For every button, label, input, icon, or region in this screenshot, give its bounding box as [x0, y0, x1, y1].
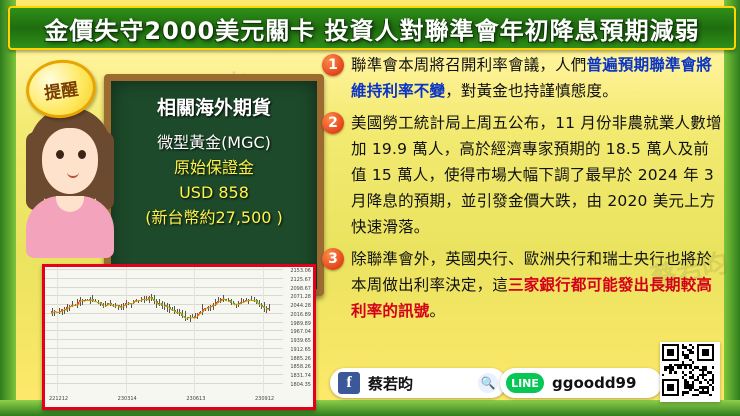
paragraph-number-badge: 2 [322, 112, 344, 134]
chart-y-tick: 1831.74 [290, 374, 311, 379]
qr-module [679, 366, 681, 368]
qr-module [697, 394, 699, 396]
paragraph-3: 3 除聯準會外，英國央行、歐洲央行和瑞士央行也將於本周做出利率決定，這三家銀行都… [322, 246, 724, 324]
line-chip[interactable]: LINE ggoodd99 [500, 368, 662, 398]
chart-gridline [45, 269, 283, 270]
paragraph-1-segment-1: 聯準會本周將召開利率會議，人們 [351, 56, 587, 74]
qr-module [687, 391, 689, 393]
qr-module [677, 394, 679, 396]
chart-y-tick: 2098.67 [290, 287, 311, 292]
reminder-label: 提醒 [42, 74, 79, 103]
chart-ma-line [265, 308, 268, 310]
decorative-left-bar [0, 0, 16, 416]
qr-module [692, 369, 694, 371]
chart-gridline [45, 287, 283, 288]
chart-vertical-gridline [194, 267, 195, 393]
paragraph-2: 2 美國勞工統計局上周五公布，11 月份非農就業人數增加 19.9 萬人，高於經… [322, 110, 724, 240]
qr-module [699, 381, 701, 383]
chart-gridline [45, 374, 283, 375]
chart-vertical-gridline [126, 267, 127, 393]
search-icon[interactable]: 🔍 [478, 373, 498, 393]
avatar-eye-left [56, 150, 64, 159]
qr-module [712, 366, 714, 368]
chart-x-tick: 230912 [255, 396, 274, 402]
qr-module [704, 374, 706, 376]
blackboard-line-3: USD 858 [179, 180, 249, 205]
chart-gridline [45, 322, 283, 323]
paragraph-1: 1 聯準會本周將召開利率會議，人們普遍預期聯準會將維持利率不變，對黃金也持謹慎態… [322, 52, 724, 104]
chart-y-tick: 2071.28 [290, 295, 311, 300]
chart-gridline [45, 278, 283, 279]
qr-module [677, 359, 679, 361]
paragraph-1-text: 聯準會本周將召開利率會議，人們普遍預期聯準會將維持利率不變，對黃金也持謹慎態度。 [351, 52, 724, 104]
qr-module [669, 371, 671, 373]
line-icon: LINE [506, 373, 544, 393]
chart-vertical-gridline [57, 267, 58, 393]
chart-y-tick: 1967.04 [290, 330, 311, 335]
page-title: 金價失守2000美元關卡 投資人對聯準會年初降息預期減弱 [44, 11, 699, 46]
chart-y-tick: 2016.89 [290, 313, 311, 318]
avatar-eye-right [78, 150, 86, 159]
qr-module [674, 371, 676, 373]
paragraph-2-text: 美國勞工統計局上周五公布，11 月份非農就業人數增加 19.9 萬人，高於經濟專… [351, 110, 724, 240]
blackboard-title: 相關海外期貨 [157, 93, 271, 120]
left-column: 提醒 相關海外期貨 微型黃金(MGC) 原始保證金 USD 858 (新台幣約2… [18, 52, 314, 404]
qr-module [689, 389, 691, 391]
qr-module [692, 351, 694, 353]
qr-module [707, 354, 709, 356]
chart-y-tick: 1885.26 [290, 357, 311, 362]
chart-y-tick: 2044.28 [290, 304, 311, 309]
blackboard-panel: 相關海外期貨 微型黃金(MGC) 原始保證金 USD 858 (新台幣約27,5… [104, 74, 324, 296]
paragraph-1-segment-3: ，對黃金也持謹慎態度。 [445, 82, 618, 100]
chart-gridline [45, 339, 283, 340]
facebook-name: 蔡若昀 [368, 373, 413, 394]
avatar-hair-right [96, 132, 114, 210]
chart-gridline [45, 295, 283, 296]
qr-module [712, 389, 714, 391]
chart-gridline [45, 313, 283, 314]
blackboard-line-1: 微型黃金(MGC) [157, 130, 271, 155]
poster-page: 蔡若昀 蔡若昀 蔡若昀 金價失守2000美元關卡 投資人對聯準會年初降息預期減弱… [0, 0, 740, 416]
chart-y-tick: 1912.65 [290, 348, 311, 353]
price-chart: 2153.062125.672098.672071.282044.282016.… [45, 267, 313, 407]
chart-y-tick: 1939.65 [290, 339, 311, 344]
qr-code[interactable] [660, 342, 720, 402]
avatar [18, 104, 122, 254]
qr-module [684, 366, 686, 368]
chart-x-tick: 230314 [118, 396, 137, 402]
decorative-right-bar [724, 0, 740, 416]
qr-module [684, 374, 686, 376]
chart-gridline [45, 383, 283, 384]
qr-module [709, 394, 711, 396]
paragraph-number-badge: 3 [322, 248, 344, 270]
qr-module [682, 394, 684, 396]
qr-module [672, 389, 674, 391]
chart-y-tick: 1858.26 [290, 365, 311, 370]
avatar-hair-left [26, 132, 44, 210]
chart-x-tick: 230613 [186, 396, 205, 402]
avatar-face [42, 128, 98, 194]
title-banner: 金價失守2000美元關卡 投資人對聯準會年初降息預期減弱 [8, 6, 736, 50]
facebook-icon: f [338, 372, 360, 394]
chart-gridline [45, 348, 283, 349]
chart-y-tick: 1989.89 [290, 322, 311, 327]
blackboard-line-4: (新台幣約27,500 ) [145, 205, 283, 230]
qr-module [672, 354, 674, 356]
qr-module [712, 381, 714, 383]
chart-y-tick: 2125.67 [290, 278, 311, 283]
paragraph-number-badge: 1 [322, 54, 344, 76]
chart-vertical-gridline [263, 267, 264, 393]
article-body: 1 聯準會本周將召開利率會議，人們普遍預期聯準會將維持利率不變，對黃金也持謹慎態… [322, 52, 724, 330]
qr-module [692, 361, 694, 363]
chart-gridline [45, 330, 283, 331]
chart-gridline [45, 365, 283, 366]
price-chart-panel[interactable]: 2153.062125.672098.672071.282044.282016.… [42, 264, 316, 410]
blackboard-line-2: 原始保證金 [174, 155, 254, 180]
paragraph-3-segment-3: 。 [430, 302, 446, 320]
chart-x-axis-labels: 221212230314230613230912 [45, 396, 283, 406]
chart-x-tick: 221212 [49, 396, 68, 402]
qr-module [662, 374, 664, 376]
chart-y-tick: 1804.35 [290, 383, 311, 388]
line-id: ggoodd99 [552, 374, 636, 392]
paragraph-3-text: 除聯準會外，英國央行、歐洲央行和瑞士央行也將於本周做出利率決定，這三家銀行都可能… [351, 246, 724, 324]
facebook-chip[interactable]: f 蔡若昀 🔍 [330, 368, 506, 398]
chart-y-tick: 2153.06 [290, 269, 311, 274]
chart-gridline [45, 357, 283, 358]
qr-module [664, 369, 666, 371]
qr-module [692, 346, 694, 348]
qr-module [712, 359, 714, 361]
